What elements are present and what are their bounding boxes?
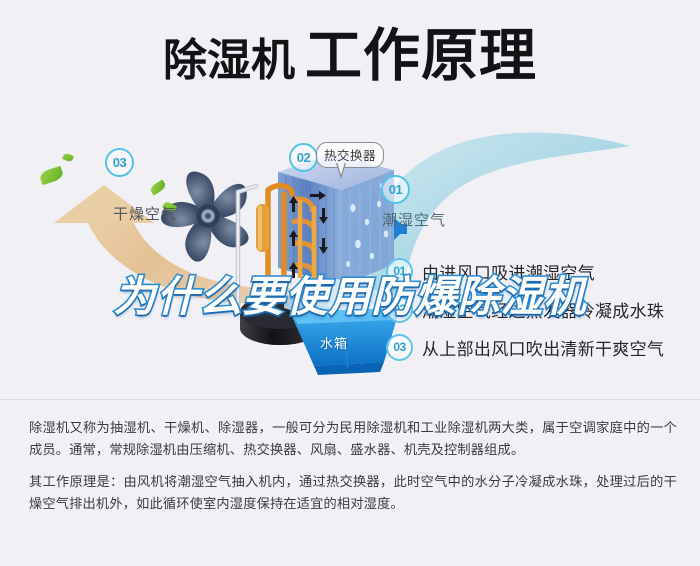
- description-paragraph-1: 除湿机又称为抽湿机、干燥机、除湿器，一般可分为民用除湿机和工业除湿机两大类，属于…: [29, 417, 677, 461]
- leaf-icon: [62, 152, 74, 162]
- diagram-badge-03: 03: [105, 148, 134, 177]
- page-root: 除湿机工作原理: [0, 0, 700, 566]
- page-title-part1: 除湿机: [163, 36, 295, 85]
- description-paragraph-2: 其工作原理是：由风机将潮湿空气抽入机内，通过热交换器，此时空气中的水分子冷凝成水…: [29, 471, 677, 515]
- diagram-badge-01: 01: [381, 175, 410, 204]
- heat-exchanger-callout: 热交换器: [316, 142, 384, 168]
- water-tank-label: 水箱: [320, 333, 348, 352]
- watermark-overlay-text: 为什么要使用防爆除湿机: [0, 263, 700, 324]
- legend-text-03: 从上部出风口吹出清新干爽空气: [422, 335, 664, 360]
- page-title: 除湿机工作原理: [0, 28, 700, 85]
- callout-pointer-icon: [336, 163, 346, 179]
- diagram-badge-02: 02: [289, 143, 318, 172]
- legend-item-03: 03 从上部出风口吹出清新干爽空气: [386, 328, 686, 366]
- dry-air-label: 干燥空气: [113, 203, 177, 224]
- moist-air-label: 潮湿空气: [382, 209, 446, 230]
- section-divider: [0, 399, 700, 400]
- legend-badge-03: 03: [386, 334, 413, 361]
- description-text-block: 除湿机又称为抽湿机、干燥机、除湿器，一般可分为民用除湿机和工业除湿机两大类，属于…: [29, 417, 677, 515]
- page-title-part2: 工作原理: [305, 24, 537, 88]
- dehumidifier-internals-illustration: [222, 146, 407, 376]
